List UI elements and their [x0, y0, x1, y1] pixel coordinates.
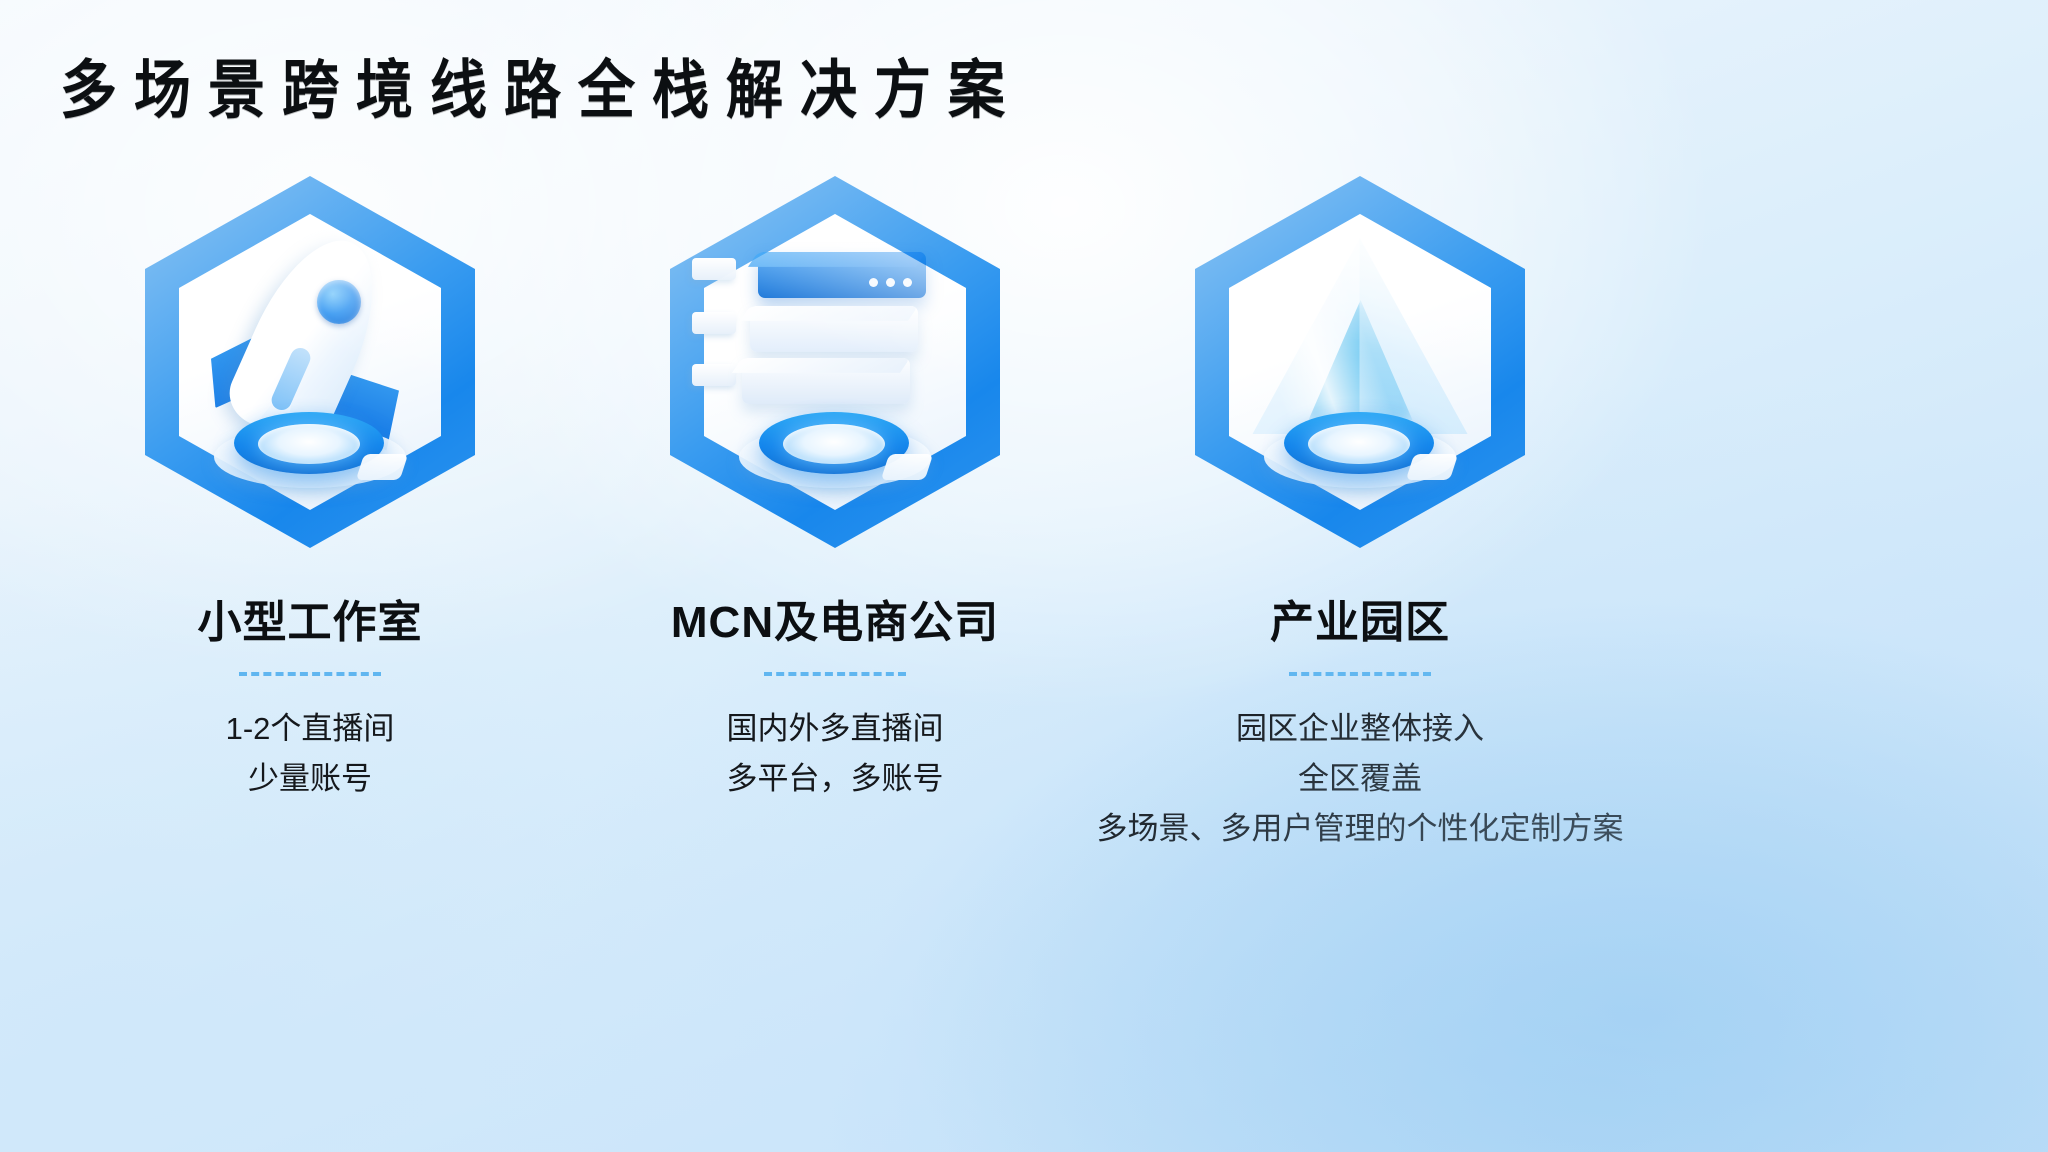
card-divider — [764, 672, 906, 676]
page-title: 多场景跨境线路全栈解决方案 — [60, 55, 1022, 128]
glow-ring-base-2 — [737, 402, 933, 488]
ring-notch — [881, 454, 933, 480]
card-description: 国内外多直播间 多平台，多账号 — [727, 704, 944, 804]
hexagon-badge-3 — [1195, 176, 1525, 548]
ring-glow-core — [1308, 424, 1410, 464]
card-description: 1-2个直播间 少量账号 — [226, 704, 395, 804]
scenario-card-list: 小型工作室 1-2个直播间 少量账号 — [0, 176, 2048, 855]
description-line: 多场景、多用户管理的个性化定制方案 — [1097, 804, 1624, 854]
description-line: 国内外多直播间 — [727, 704, 944, 754]
description-line: 全区覆盖 — [1097, 754, 1624, 804]
server-unit-top — [758, 252, 926, 298]
glow-ring-base-3 — [1262, 402, 1458, 488]
description-line: 少量账号 — [226, 754, 395, 804]
scenario-card-mcn-ecommerce[interactable]: MCN及电商公司 国内外多直播间 多平台，多账号 — [585, 176, 1085, 804]
ring-notch — [1406, 454, 1458, 480]
server-unit-topface — [748, 252, 926, 267]
ring-glow-core — [258, 424, 360, 464]
slide-canvas: 多场景跨境线路全栈解决方案 — [0, 0, 2048, 1152]
glow-ring-base-1 — [212, 402, 408, 488]
card-divider — [239, 672, 381, 676]
server-indicator-lights — [869, 278, 912, 287]
server-tab — [692, 364, 736, 386]
server-tab — [692, 312, 736, 334]
rocket-porthole — [317, 280, 361, 324]
scenario-card-small-studio[interactable]: 小型工作室 1-2个直播间 少量账号 — [60, 176, 560, 804]
server-unit-topface — [732, 358, 910, 373]
hexagon-badge-1 — [145, 176, 475, 548]
card-description: 园区企业整体接入 全区覆盖 多场景、多用户管理的个性化定制方案 — [1097, 704, 1624, 855]
description-line: 园区企业整体接入 — [1097, 704, 1624, 754]
description-line: 多平台，多账号 — [727, 754, 944, 804]
server-unit-middle — [750, 306, 918, 352]
hexagon-badge-2 — [670, 176, 1000, 548]
ring-notch — [356, 454, 408, 480]
scenario-card-industrial-park[interactable]: 产业园区 园区企业整体接入 全区覆盖 多场景、多用户管理的个性化定制方案 — [1110, 176, 1610, 855]
card-divider — [1289, 672, 1431, 676]
server-unit-bottom — [742, 358, 910, 404]
server-unit-topface — [740, 306, 918, 321]
ring-glow-core — [783, 424, 885, 464]
server-tab — [692, 258, 736, 280]
description-line: 1-2个直播间 — [226, 704, 395, 754]
card-title: 产业园区 — [1270, 586, 1450, 650]
card-title: MCN及电商公司 — [671, 586, 999, 650]
card-title: 小型工作室 — [198, 586, 423, 650]
